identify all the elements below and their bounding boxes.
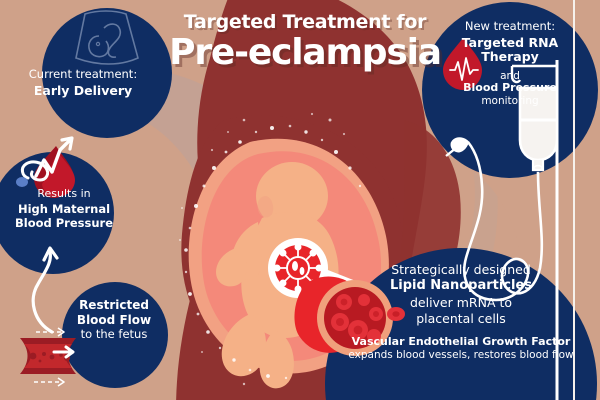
callout-text-middle-left: Results in High Maternal Blood Pressure bbox=[2, 188, 126, 230]
br-line-4: placental cells bbox=[330, 311, 592, 326]
title-line-1: Targeted Treatment for bbox=[150, 12, 460, 33]
callout-text-top-left: Current treatment: Early Delivery bbox=[18, 68, 148, 98]
callout-text-top-right: New treatment: Targeted RNA Therapy and … bbox=[440, 20, 580, 108]
tr-line-1: New treatment: bbox=[440, 20, 580, 34]
tl-line-2: Early Delivery bbox=[18, 84, 148, 99]
ml-line-2: High Maternal bbox=[2, 203, 126, 217]
tr-line-5: Blood Pressure bbox=[440, 82, 580, 95]
br-line-1: Strategically designed bbox=[330, 262, 592, 277]
infographic-canvas: Targeted Treatment for Pre-eclampsia Cur… bbox=[0, 0, 600, 400]
page-title: Targeted Treatment for Pre-eclampsia bbox=[150, 12, 460, 72]
tr-line-6: monitoring bbox=[440, 95, 580, 107]
br-line-5: Vascular Endothelial Growth Factor bbox=[330, 335, 592, 348]
bl-line-1: Restricted bbox=[58, 298, 170, 312]
ml-line-1: Results in bbox=[2, 188, 126, 201]
ultrasound-fetus-icon bbox=[76, 11, 138, 64]
br-line-2: Lipid Nanoparticles bbox=[330, 278, 592, 294]
br-line-3: deliver mRNA to bbox=[330, 295, 592, 310]
tr-line-3: Therapy bbox=[440, 50, 580, 65]
bl-line-3: to the fetus bbox=[58, 328, 170, 342]
title-line-2: Pre-eclampsia bbox=[150, 34, 460, 72]
callout-text-bottom-left: Restricted Blood Flow to the fetus bbox=[58, 298, 170, 342]
tl-line-1: Current treatment: bbox=[18, 68, 148, 82]
callout-text-bottom-right: Strategically designed Lipid Nanoparticl… bbox=[330, 262, 592, 361]
br-line-6: expands blood vessels, restores blood fl… bbox=[330, 349, 592, 362]
tr-line-2: Targeted RNA bbox=[440, 36, 580, 51]
curved-arrow-vessel-to-pressure bbox=[33, 248, 57, 332]
right-margin-strip bbox=[573, 0, 575, 400]
ml-line-3: Blood Pressure bbox=[2, 217, 126, 231]
bl-line-2: Blood Flow bbox=[58, 313, 170, 327]
